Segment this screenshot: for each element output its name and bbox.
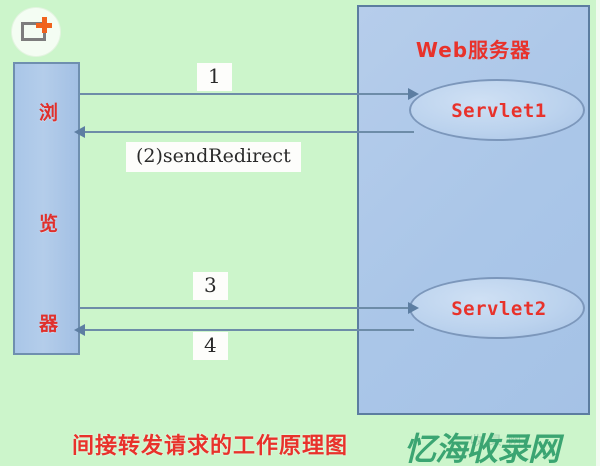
flow-label-3: 3: [193, 272, 228, 300]
browser-box[interactable]: 浏 览 器: [13, 62, 80, 355]
flow-label-1: 1: [197, 63, 232, 91]
flow-line-1: [80, 93, 412, 95]
site-watermark: 忆海收录网: [404, 424, 559, 466]
servlet1-node[interactable]: Servlet1: [409, 79, 585, 141]
flow-arrowhead-1: [408, 88, 419, 100]
new-window-plus-icon[interactable]: [12, 8, 60, 56]
web-server-panel[interactable]: [357, 5, 590, 415]
diagram-caption: 间接转发请求的工作原理图: [0, 428, 420, 460]
diagram-canvas: 浏 览 器 Web服务器 Servlet1 Servlet2 1 (2)send…: [0, 0, 600, 466]
servlet2-label: Servlet2: [411, 279, 587, 341]
flow-line-3: [80, 307, 412, 309]
browser-label-char-3: 器: [15, 309, 82, 336]
flow-line-4: [78, 329, 414, 331]
browser-label-char-2: 览: [15, 209, 82, 236]
servlet1-label: Servlet1: [411, 81, 587, 143]
plus-badge-icon: [36, 17, 52, 33]
flow-label-4: 4: [193, 332, 228, 360]
flow-arrowhead-2: [74, 126, 85, 138]
flow-label-sendredirect: (2)sendRedirect: [126, 142, 301, 172]
flow-arrowhead-4: [74, 324, 85, 336]
web-server-title: Web服务器: [357, 34, 590, 63]
servlet2-node[interactable]: Servlet2: [409, 277, 585, 339]
browser-label-char-1: 浏: [15, 98, 82, 125]
page-right-edge: [596, 0, 600, 466]
flow-line-2: [78, 131, 414, 133]
flow-arrowhead-3: [408, 302, 419, 314]
